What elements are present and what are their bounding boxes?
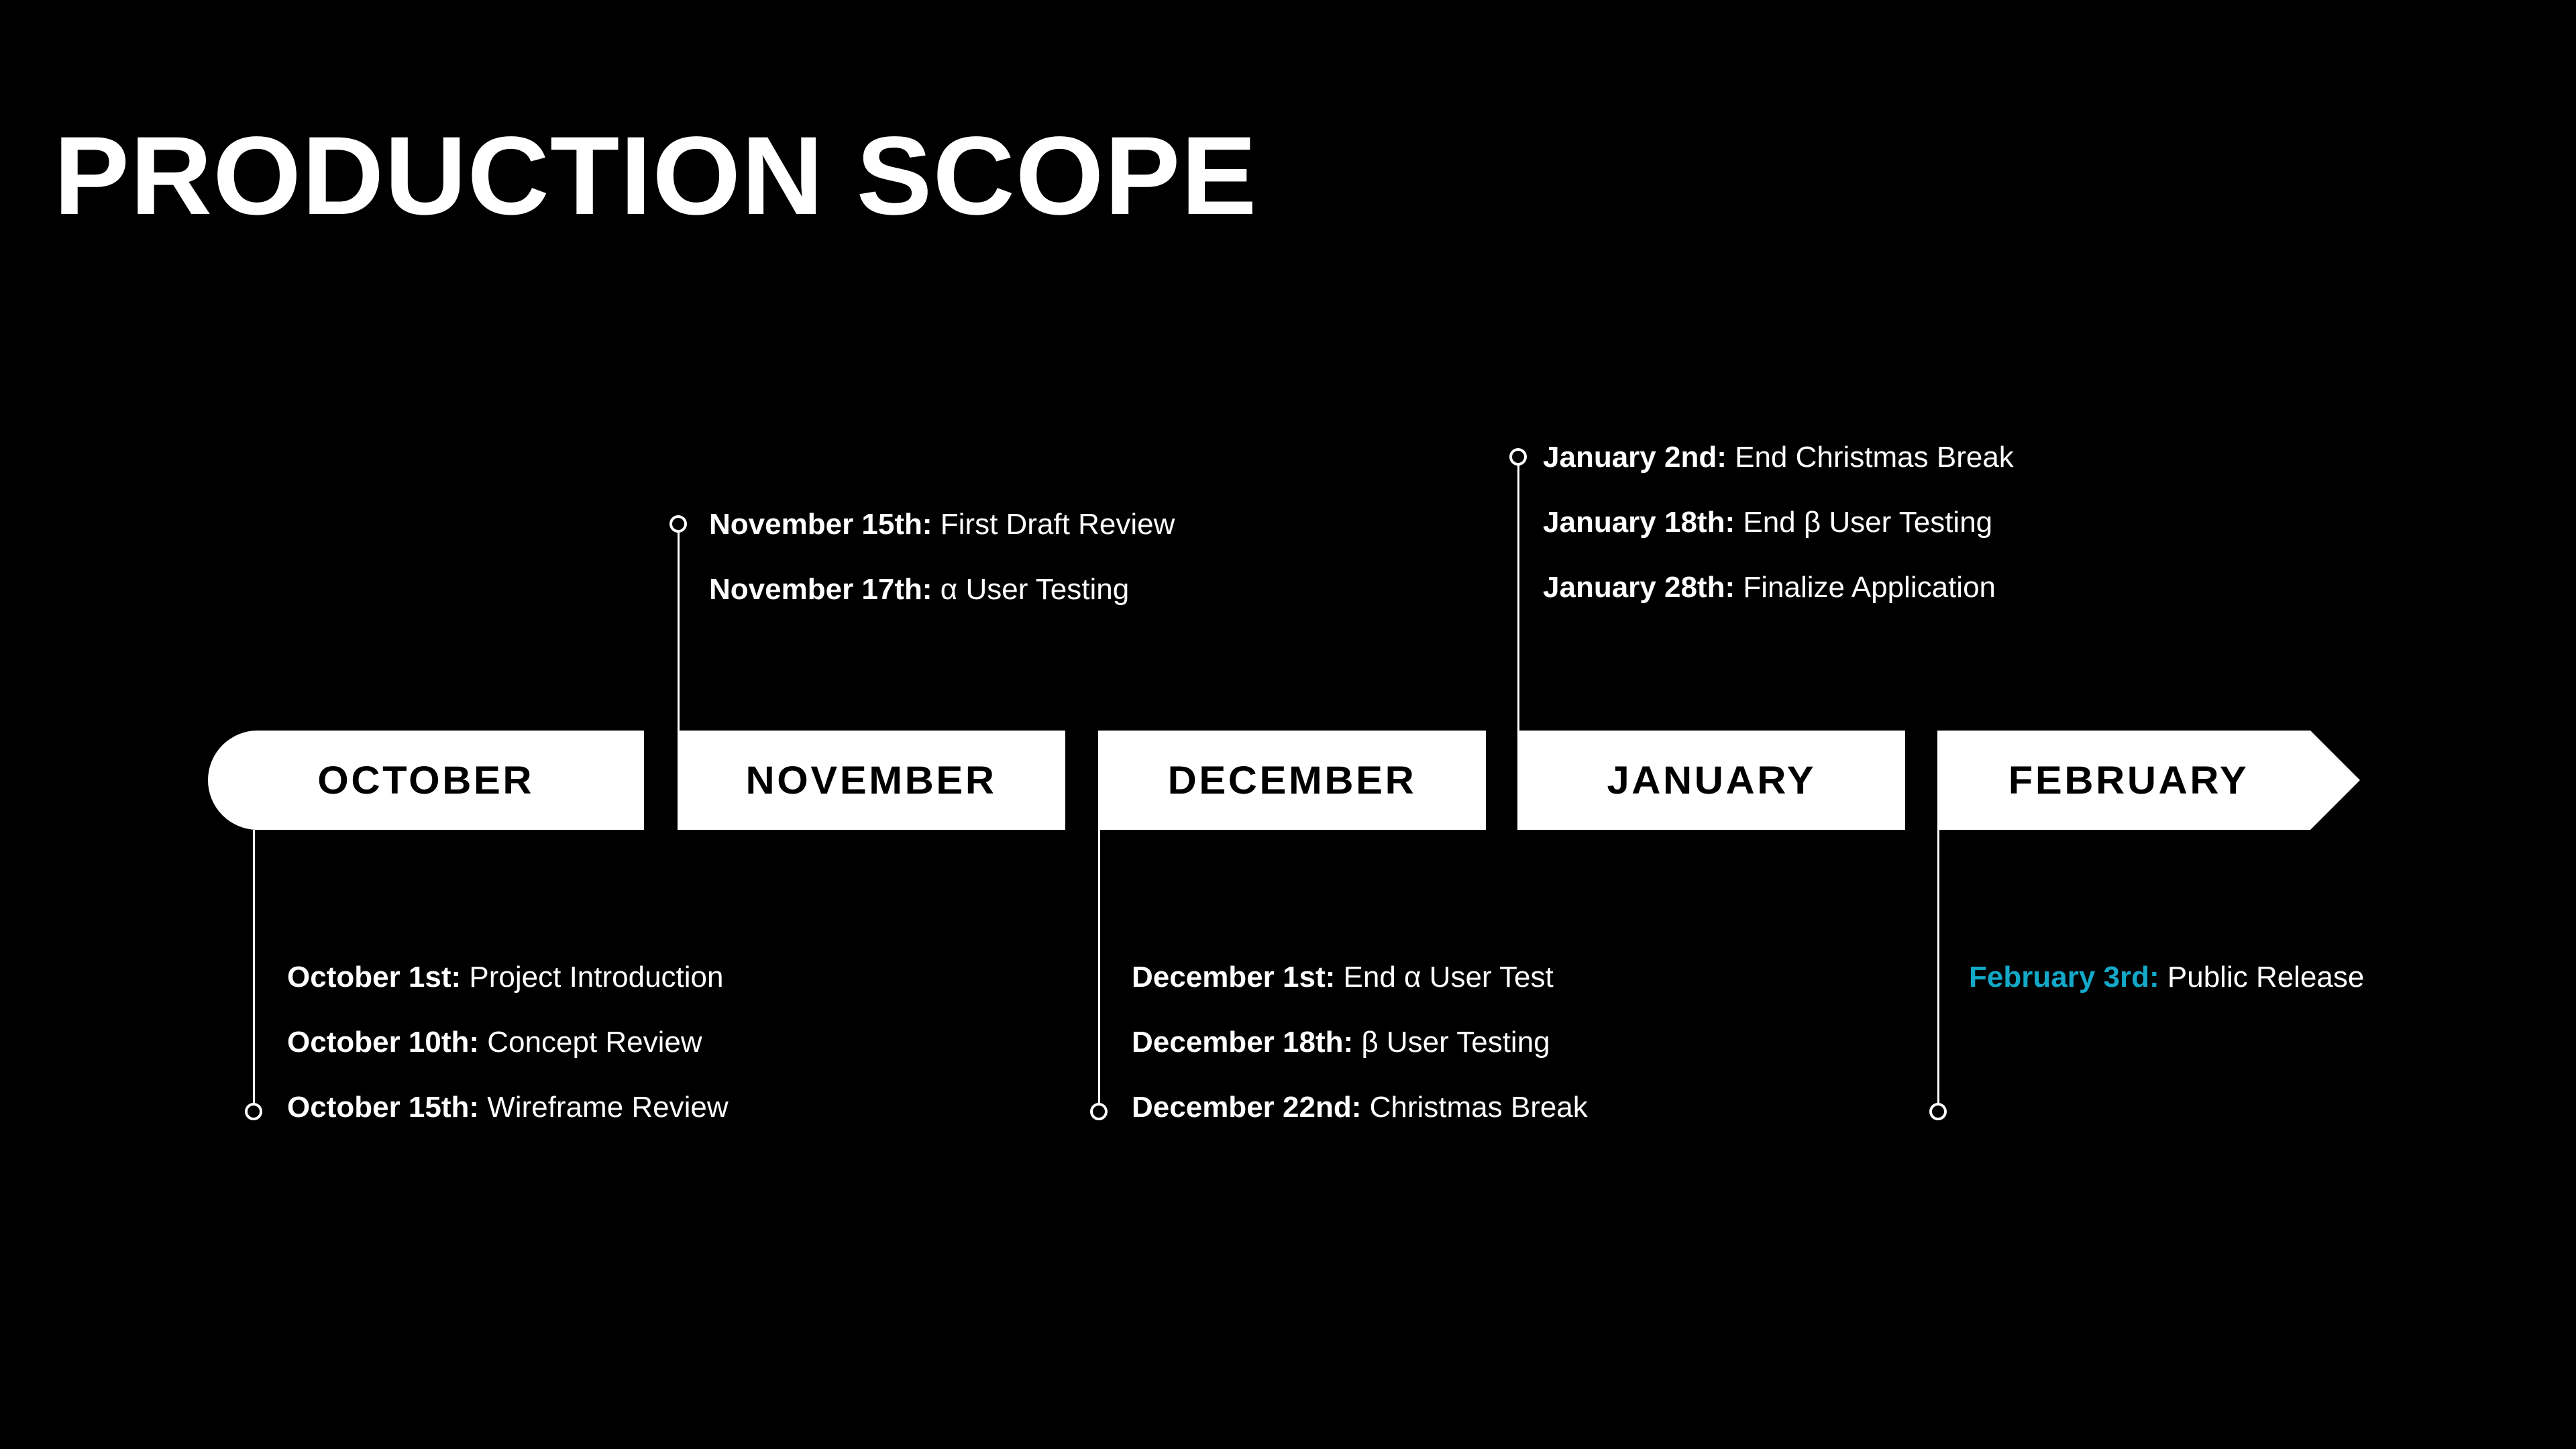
annotation-item: December 1st: End α User Test	[1132, 963, 1588, 992]
annotation-description: Concept Review	[487, 1026, 702, 1059]
annotation-item: November 15th: First Draft Review	[709, 510, 1175, 539]
marker-dot-january	[1509, 448, 1527, 466]
annotation-date: December 1st:	[1132, 961, 1335, 994]
month-label-december: DECEMBER	[1168, 758, 1417, 803]
connector-line-december	[1098, 830, 1100, 1112]
month-label-november: NOVEMBER	[746, 758, 997, 803]
connector-line-january	[1517, 463, 1519, 731]
connector-line-february	[1937, 830, 1939, 1112]
annotation-description: Finalize Application	[1743, 571, 1996, 604]
annotation-item: October 1st: Project Introduction	[287, 963, 729, 992]
annotation-group-december: December 1st: End α User Test December 1…	[1132, 963, 1588, 1122]
annotation-date: January 28th:	[1543, 571, 1735, 604]
annotation-item: December 22nd: Christmas Break	[1132, 1093, 1588, 1122]
annotation-date: December 22nd:	[1132, 1091, 1361, 1124]
annotation-date: February 3rd:	[1969, 961, 2159, 994]
annotation-date: October 15th:	[287, 1091, 479, 1124]
annotation-date: January 2nd:	[1543, 441, 1727, 474]
annotation-item: December 18th: β User Testing	[1132, 1028, 1588, 1057]
annotation-item: October 15th: Wireframe Review	[287, 1093, 729, 1122]
annotation-date: January 18th:	[1543, 506, 1735, 539]
annotation-description: α User Testing	[941, 573, 1129, 606]
annotation-description: End Christmas Break	[1735, 441, 2014, 474]
marker-dot-october	[245, 1103, 262, 1120]
month-segment-december[interactable]: DECEMBER	[1098, 731, 1486, 830]
annotation-group-january: January 2nd: End Christmas Break January…	[1543, 443, 2014, 602]
month-label-october: OCTOBER	[318, 758, 535, 803]
marker-dot-november	[669, 515, 687, 533]
annotation-description: First Draft Review	[941, 508, 1175, 541]
month-segment-november[interactable]: NOVEMBER	[678, 731, 1065, 830]
annotation-description: End α User Test	[1344, 961, 1554, 994]
annotation-item: February 3rd: Public Release	[1969, 963, 2364, 992]
month-segment-january[interactable]: JANUARY	[1517, 731, 1905, 830]
annotation-group-october: October 1st: Project Introduction Octobe…	[287, 963, 729, 1122]
month-label-february: FEBRUARY	[2008, 758, 2249, 803]
annotation-date: October 10th:	[287, 1026, 479, 1059]
annotation-date: October 1st:	[287, 961, 461, 994]
month-segment-february[interactable]: FEBRUARY	[1937, 731, 2360, 830]
annotation-group-february: February 3rd: Public Release	[1969, 963, 2364, 992]
connector-line-october	[253, 830, 255, 1112]
annotation-date: December 18th:	[1132, 1026, 1353, 1059]
annotation-description: End β User Testing	[1743, 506, 1992, 539]
annotation-item: January 28th: Finalize Application	[1543, 573, 2014, 602]
annotation-description: Project Introduction	[469, 961, 723, 994]
annotation-group-november: November 15th: First Draft Review Novemb…	[709, 510, 1175, 604]
annotation-description: Wireframe Review	[487, 1091, 728, 1124]
annotation-item: October 10th: Concept Review	[287, 1028, 729, 1057]
annotation-description: β User Testing	[1361, 1026, 1550, 1059]
annotation-item: November 17th: α User Testing	[709, 575, 1175, 604]
page-title: PRODUCTION SCOPE	[54, 121, 1257, 232]
month-label-january: JANUARY	[1607, 758, 1816, 803]
timeline-bar: OCTOBER NOVEMBER DECEMBER JANUARY FEBRUA…	[0, 731, 2576, 830]
annotation-date: November 17th:	[709, 573, 932, 606]
annotation-item: January 18th: End β User Testing	[1543, 508, 2014, 537]
annotation-item: January 2nd: End Christmas Break	[1543, 443, 2014, 472]
marker-dot-february	[1929, 1103, 1947, 1120]
connector-line-november	[678, 530, 680, 731]
month-segment-october[interactable]: OCTOBER	[208, 731, 644, 830]
annotation-description: Christmas Break	[1370, 1091, 1588, 1124]
annotation-description: Public Release	[2167, 961, 2365, 994]
marker-dot-december	[1090, 1103, 1108, 1120]
annotation-date: November 15th:	[709, 508, 932, 541]
